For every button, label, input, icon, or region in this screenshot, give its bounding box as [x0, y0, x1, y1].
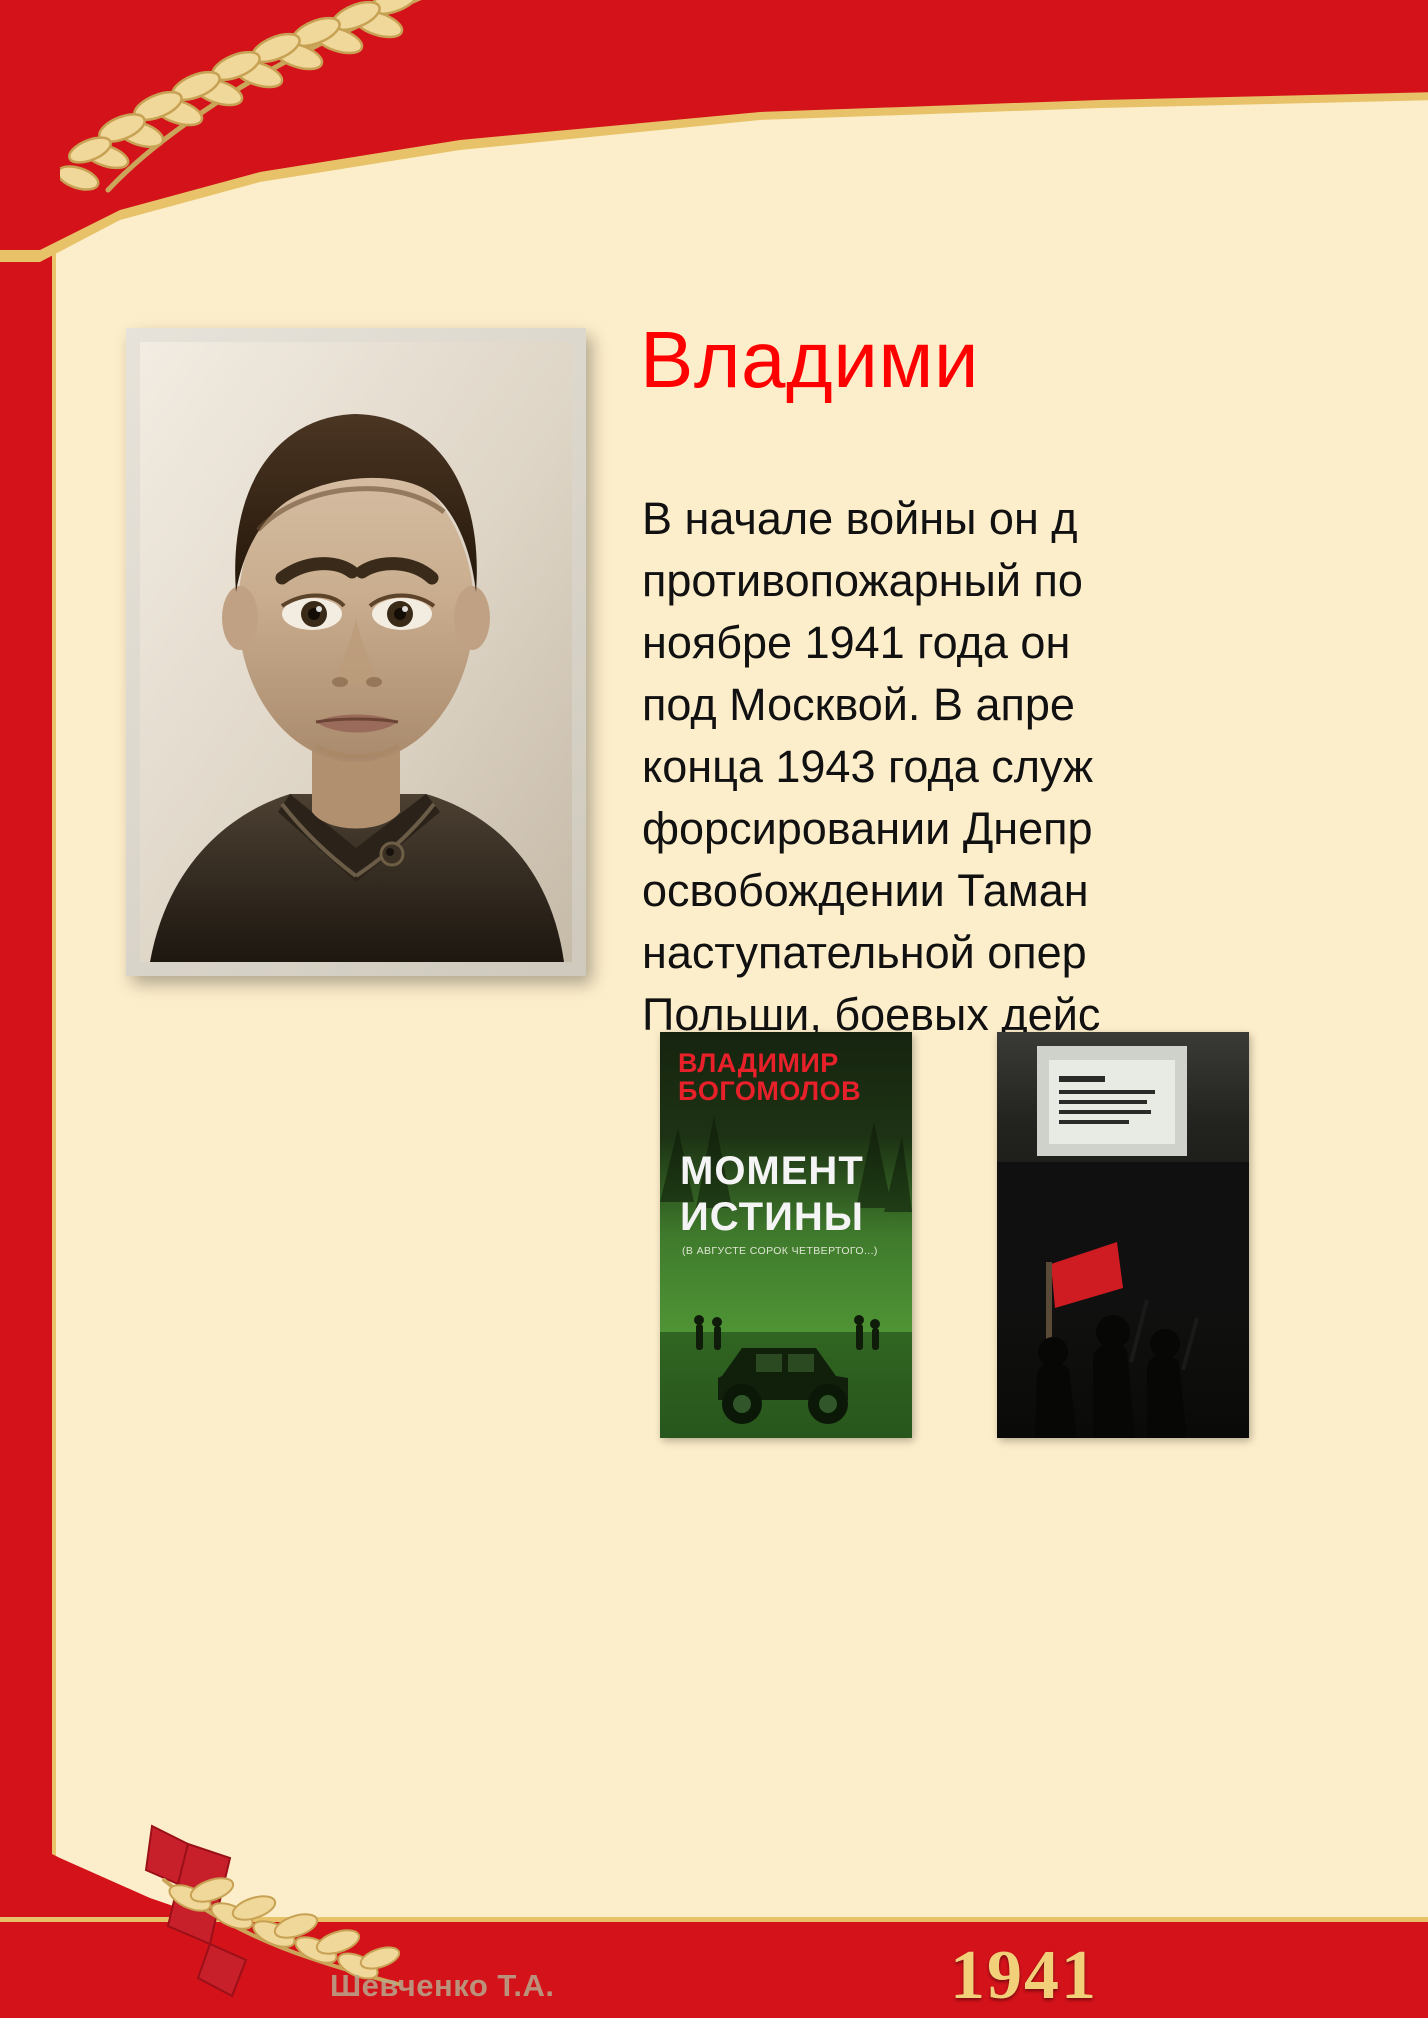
- body-line: под Москвой. В апре: [642, 674, 1428, 736]
- presentation-slide: Владими В начале войны он д противопожар…: [0, 0, 1428, 2018]
- body-line: ноябре 1941 года он: [642, 612, 1428, 674]
- year-badge: 1941: [950, 1936, 1098, 2016]
- author-credit-watermark: Шевченко Т.А.: [330, 1968, 554, 2004]
- portrait-photo: [140, 342, 572, 962]
- body-line: В начале войны он д: [642, 488, 1428, 550]
- book-cover-second: [997, 1032, 1249, 1438]
- book-cover-moment-istiny: ВЛАДИМИР БОГОМОЛОВ МОМЕНТ ИСТИНЫ (В АВГУ…: [660, 1032, 912, 1438]
- svg-text:МОМЕНТ: МОМЕНТ: [680, 1149, 864, 1193]
- body-line: противопожарный по: [642, 550, 1428, 612]
- laurel-branch-icon: [60, 0, 440, 204]
- body-line: наступательной опер: [642, 922, 1428, 984]
- portrait-photo-frame: [126, 328, 586, 976]
- body-line: форсировании Днепр: [642, 798, 1428, 860]
- svg-text:ИСТИНЫ: ИСТИНЫ: [680, 1195, 864, 1239]
- slide-body-text: В начале войны он д противопожарный по н…: [642, 488, 1428, 1046]
- body-line: конца 1943 года служ: [642, 736, 1428, 798]
- svg-text:ВЛАДИМИР: ВЛАДИМИР: [678, 1048, 839, 1078]
- svg-text:(В АВГУСТЕ СОРОК ЧЕТВЕРТОГО...: (В АВГУСТЕ СОРОК ЧЕТВЕРТОГО...): [682, 1245, 878, 1257]
- body-line: освобождении Таман: [642, 860, 1428, 922]
- svg-text:БОГОМОЛОВ: БОГОМОЛОВ: [678, 1076, 861, 1106]
- book-covers-group: ВЛАДИМИР БОГОМОЛОВ МОМЕНТ ИСТИНЫ (В АВГУ…: [660, 1032, 1249, 1438]
- slide-title: Владими: [640, 320, 1428, 400]
